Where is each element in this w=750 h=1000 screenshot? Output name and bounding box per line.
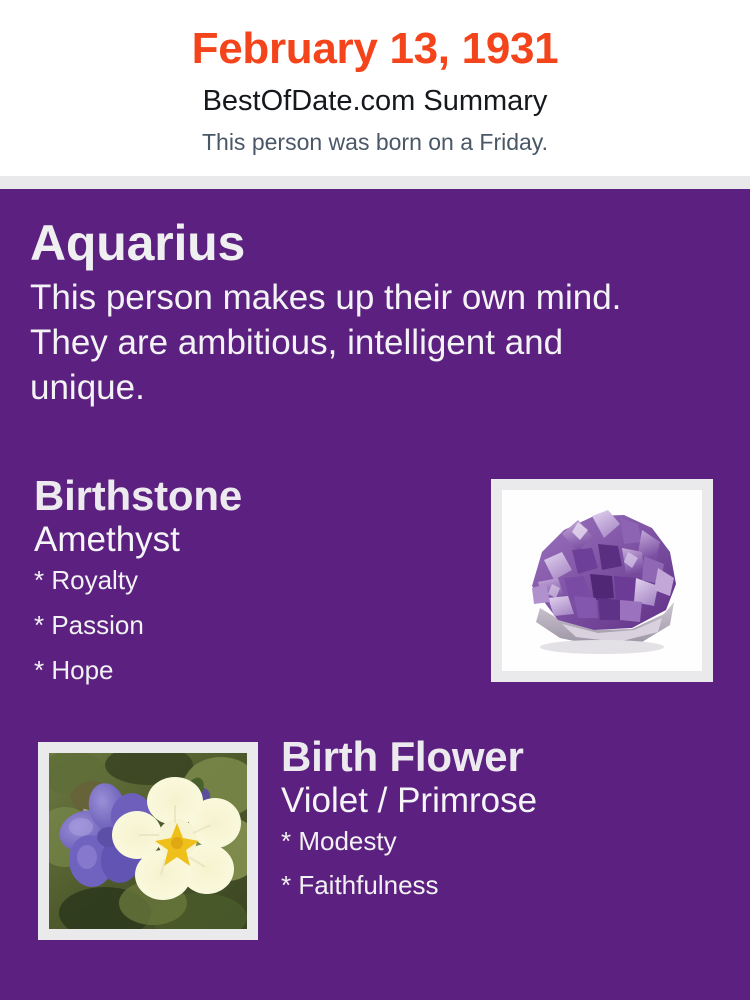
zodiac-sign-name: Aquarius [30,216,690,270]
birth-flower-heading: Birth Flower [281,735,741,779]
birth-flower-trait-list: * Modesty * Faithfulness [281,828,741,898]
born-on-day-note: This person was born on a Friday. [0,129,750,155]
card-header: February 13, 1931 BestOfDate.com Summary… [0,0,750,176]
page-title-date: February 13, 1931 [0,24,750,73]
list-item: * Royalty [34,567,474,593]
list-item: * Hope [34,657,474,683]
list-item: * Passion [34,612,474,638]
amethyst-crystal-icon [502,490,702,671]
summary-card: February 13, 1931 BestOfDate.com Summary… [0,0,750,1000]
birthstone-section: Birthstone Amethyst * Royalty * Passion … [34,474,474,702]
site-name-label: BestOfDate.com Summary [0,85,750,118]
birthstone-heading: Birthstone [34,474,474,518]
birthstone-image-frame [491,479,713,682]
birthstone-name: Amethyst [34,520,474,559]
birthstone-trait-list: * Royalty * Passion * Hope [34,567,474,683]
birth-flower-name: Violet / Primrose [281,781,741,820]
violet-and-primrose-icon [49,753,247,929]
birthstone-photo [502,490,702,671]
header-divider [0,176,750,189]
list-item: * Modesty [281,828,741,854]
zodiac-description: This person makes up their own mind. The… [30,276,678,410]
birth-flower-photo [49,753,247,929]
list-item: * Faithfulness [281,872,741,898]
birth-flower-image-frame [38,742,258,940]
zodiac-section: Aquarius This person makes up their own … [30,216,690,410]
birth-flower-section: Birth Flower Violet / Primrose * Modesty… [281,735,741,916]
